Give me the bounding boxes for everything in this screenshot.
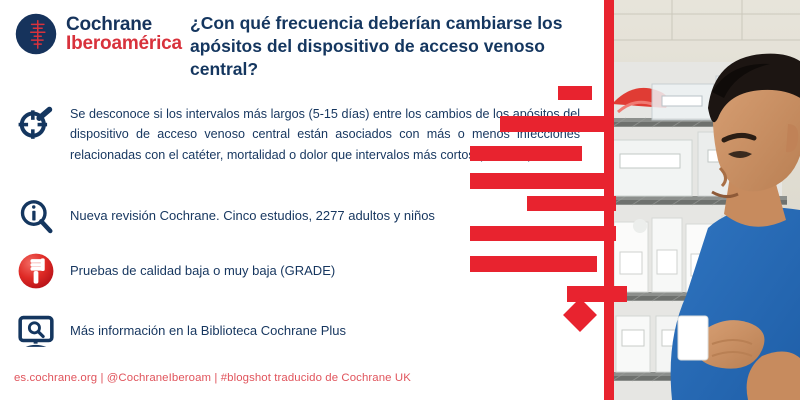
content-panel: Cochrane Iberoamérica ¿Con qué frecuenci…	[0, 0, 612, 400]
clinician-supplies-photo	[612, 0, 800, 400]
bullet-text: Se desconoce si los intervalos más largo…	[70, 104, 580, 165]
forest-plot-edge-rule	[604, 0, 613, 400]
bullet-text: Pruebas de calidad baja o muy baja (GRAD…	[70, 260, 335, 281]
logo-name-line1: Cochrane	[66, 15, 182, 34]
cochrane-logo-icon	[14, 12, 58, 56]
logo-name-line2: Iberoamérica	[66, 34, 182, 53]
target-crosshair-icon	[16, 104, 56, 144]
blogshot-infographic: Cochrane Iberoamérica ¿Con qué frecuenci…	[0, 0, 800, 400]
bullet-row-more-info[interactable]: Más información en la Biblioteca Cochran…	[16, 311, 586, 351]
footer-credits[interactable]: es.cochrane.org | @CochraneIberoam | #bl…	[14, 372, 411, 384]
bullet-row-review-info: Nueva revisión Cochrane. Cinco estudios,…	[16, 196, 586, 236]
thumbs-down-icon	[16, 251, 56, 291]
cochrane-logo[interactable]: Cochrane Iberoamérica	[14, 12, 182, 56]
bullet-row-finding: Se desconoce si los intervalos más largo…	[16, 104, 586, 165]
magnifier-info-icon	[16, 196, 56, 236]
headline: ¿Con qué frecuencia deberían cambiarse l…	[190, 12, 602, 80]
bullet-text: Nueva revisión Cochrane. Cinco estudios,…	[70, 205, 435, 226]
bullet-text: Más información en la Biblioteca Cochran…	[70, 320, 346, 341]
bullet-row-evidence-quality: Pruebas de calidad baja o muy baja (GRAD…	[16, 251, 586, 291]
monitor-search-icon	[16, 311, 56, 351]
